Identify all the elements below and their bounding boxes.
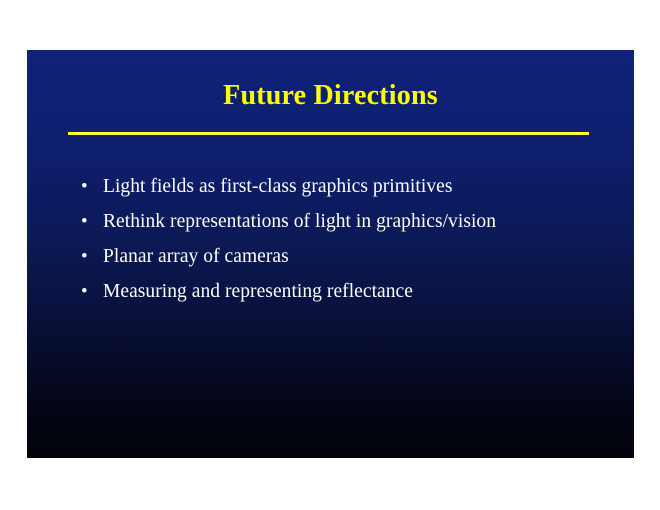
slide-canvas: Future Directions • Light fields as firs… [0,0,660,510]
title-divider-rule [68,132,589,135]
bullet-point-icon: • [81,274,97,309]
list-item-label: Rethink representations of light in grap… [103,204,496,239]
bullet-list: • Light fields as first-class graphics p… [81,169,626,309]
bullet-point-icon: • [81,169,97,204]
bullet-point-icon: • [81,239,97,274]
page-title: Future Directions [27,81,634,111]
presentation-slide: Future Directions • Light fields as firs… [27,50,634,458]
list-item-label: Planar array of cameras [103,239,289,274]
list-item: • Measuring and representing reflectance [81,274,626,309]
list-item: • Rethink representations of light in gr… [81,204,626,239]
bullet-point-icon: • [81,204,97,239]
list-item: • Light fields as first-class graphics p… [81,169,626,204]
list-item: • Planar array of cameras [81,239,626,274]
list-item-label: Measuring and representing reflectance [103,274,413,309]
list-item-label: Light fields as first-class graphics pri… [103,169,452,204]
